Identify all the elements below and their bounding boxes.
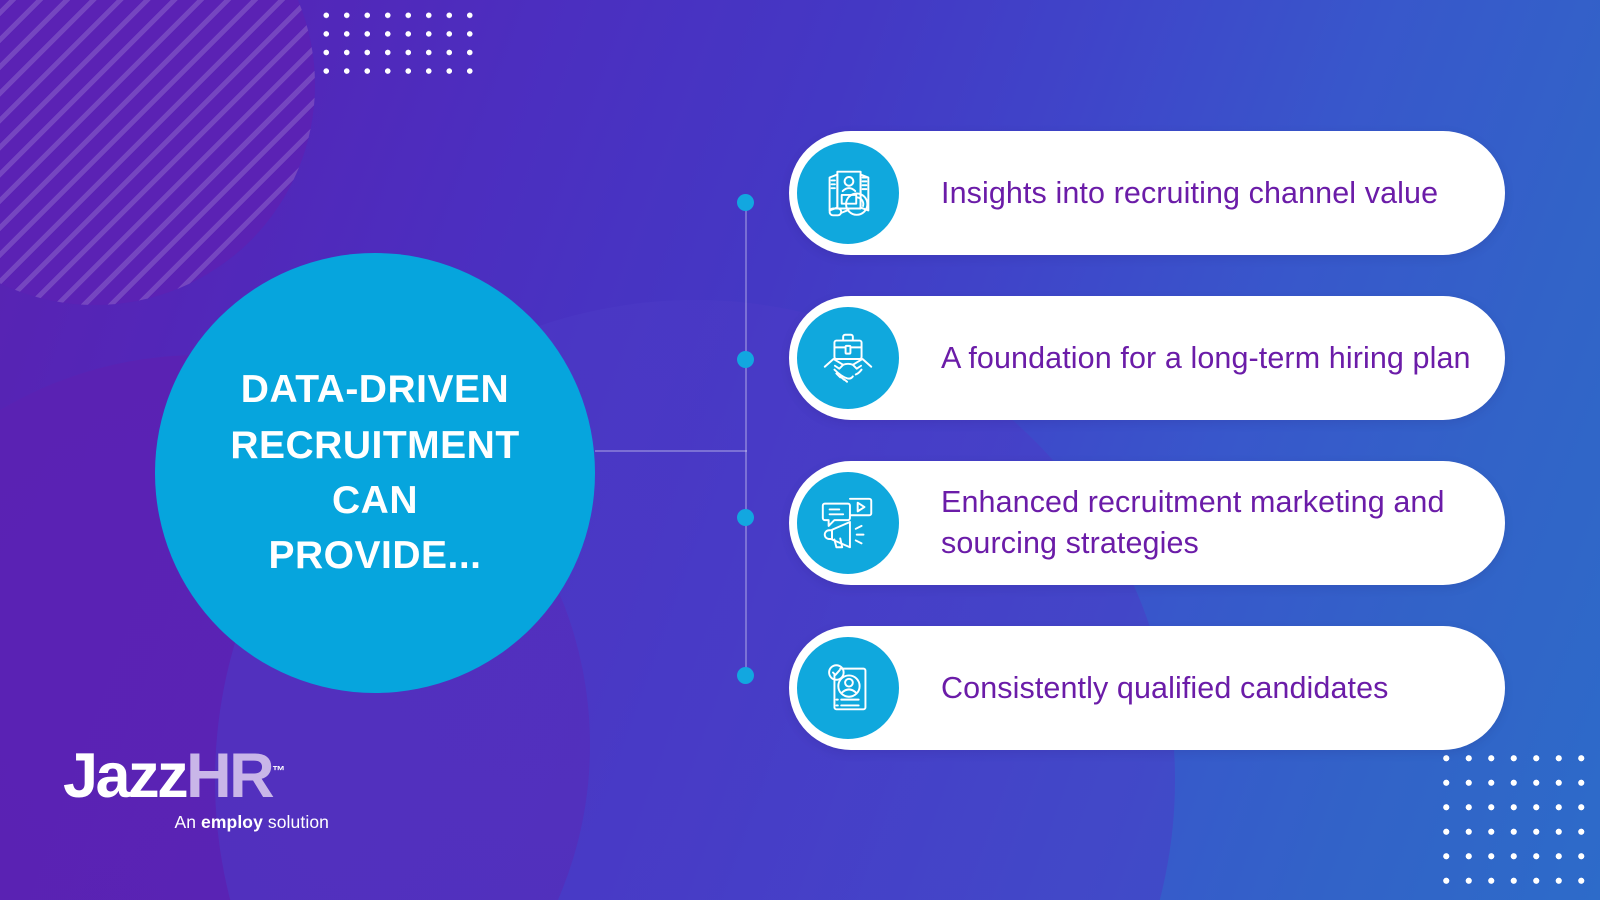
hero-title-line-3: CAN [230, 473, 519, 528]
logo-tagline: An employ solution [63, 812, 333, 833]
logo-secondary-text: HR [186, 741, 272, 811]
tagline-suffix: solution [263, 812, 329, 832]
dot-grid-bottom-right [1435, 746, 1600, 896]
benefit-card[interactable]: Enhanced recruitment marketing and sourc… [789, 461, 1505, 585]
infographic-slide: DATA-DRIVEN RECRUITMENT CAN PROVIDE... [0, 0, 1600, 900]
briefcase-handshake-icon [791, 301, 905, 415]
benefit-card[interactable]: Insights into recruiting channel value [789, 131, 1505, 255]
benefit-card-text: Consistently qualified candidates [941, 668, 1389, 709]
verified-candidate-icon [791, 631, 905, 745]
trademark-icon: ™ [272, 763, 285, 778]
logo-wordmark: JazzHR™ [63, 745, 333, 808]
background-striped-circle [0, 0, 315, 305]
connector-node-2 [737, 351, 754, 368]
benefit-card[interactable]: Consistently qualified candidates [789, 626, 1505, 750]
benefit-card[interactable]: A foundation for a long-term hiring plan [789, 296, 1505, 420]
dot-grid-top-left [316, 6, 486, 84]
benefit-card-text: Insights into recruiting channel value [941, 173, 1438, 214]
resume-search-icon [791, 136, 905, 250]
benefit-card-text: Enhanced recruitment marketing and sourc… [941, 482, 1471, 563]
tagline-bold: employ [201, 812, 263, 832]
tagline-prefix: An [174, 812, 201, 832]
jazzhr-logo: JazzHR™ An employ solution [63, 745, 333, 833]
hero-title-line-4: PROVIDE... [230, 528, 519, 583]
hero-circle: DATA-DRIVEN RECRUITMENT CAN PROVIDE... [155, 253, 595, 693]
connector-node-4 [737, 667, 754, 684]
megaphone-media-icon [791, 466, 905, 580]
hero-title-line-2: RECRUITMENT [230, 418, 519, 473]
connector-horizontal [595, 450, 747, 452]
connector-vertical [745, 203, 747, 678]
hero-title-line-1: DATA-DRIVEN [230, 362, 519, 417]
connector-node-1 [737, 194, 754, 211]
connector-node-3 [737, 509, 754, 526]
benefit-card-list: Insights into recruiting channel value A [789, 131, 1505, 750]
logo-primary-text: Jazz [63, 741, 186, 811]
hero-title: DATA-DRIVEN RECRUITMENT CAN PROVIDE... [212, 362, 537, 584]
benefit-card-text: A foundation for a long-term hiring plan [941, 338, 1471, 379]
